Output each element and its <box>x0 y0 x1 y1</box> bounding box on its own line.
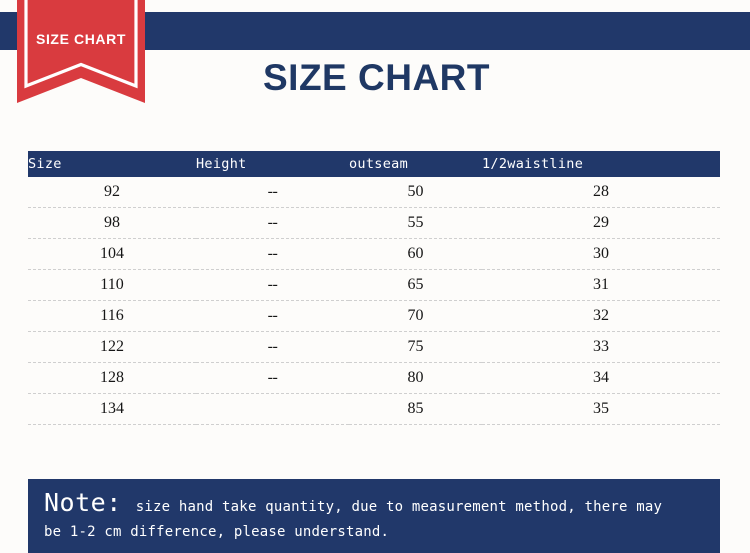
cell-height <box>196 394 349 425</box>
page-title: SIZE CHART <box>263 59 490 96</box>
cell-outseam: 75 <box>349 332 482 363</box>
cell-waistline: 32 <box>482 301 720 332</box>
cell-size: 92 <box>28 177 196 208</box>
cell-waistline: 31 <box>482 270 720 301</box>
cell-size: 110 <box>28 270 196 301</box>
cell-size: 122 <box>28 332 196 363</box>
cell-waistline: 30 <box>482 239 720 270</box>
note-first-line: Note: size hand take quantity, due to me… <box>44 488 710 517</box>
cell-outseam: 80 <box>349 363 482 394</box>
cell-waistline: 28 <box>482 177 720 208</box>
cell-outseam: 65 <box>349 270 482 301</box>
cell-waistline: 29 <box>482 208 720 239</box>
cell-size: 116 <box>28 301 196 332</box>
column-header-outseam: outseam <box>349 151 482 177</box>
table-row: 98 -- 55 29 <box>28 208 720 239</box>
cell-height: -- <box>196 270 349 301</box>
cell-outseam: 85 <box>349 394 482 425</box>
table-header-row: Size Height outseam 1/2waistline <box>28 151 720 177</box>
cell-outseam: 60 <box>349 239 482 270</box>
size-chart-table: Size Height outseam 1/2waistline 92 -- 5… <box>28 151 720 425</box>
cell-size: 98 <box>28 208 196 239</box>
cell-waistline: 33 <box>482 332 720 363</box>
cell-height-value: -- <box>268 374 278 382</box>
cell-height: -- <box>196 332 349 363</box>
cell-outseam: 70 <box>349 301 482 332</box>
table-header: Size Height outseam 1/2waistline <box>28 151 720 177</box>
note-bar: Note: size hand take quantity, due to me… <box>28 479 720 553</box>
table-row: 104 -- 60 30 <box>28 239 720 270</box>
cell-size: 134 <box>28 394 196 425</box>
table-row: 134 85 35 <box>28 394 720 425</box>
table-row: 122 -- 75 33 <box>28 332 720 363</box>
cell-outseam: 55 <box>349 208 482 239</box>
cell-height: -- <box>196 301 349 332</box>
ribbon-label: SIZE CHART <box>17 0 145 78</box>
cell-outseam: 50 <box>349 177 482 208</box>
cell-height: -- <box>196 363 349 394</box>
cell-height: -- <box>196 208 349 239</box>
note-text-line-1: size hand take quantity, due to measurem… <box>136 499 662 515</box>
size-chart-ribbon: SIZE CHART <box>17 0 145 103</box>
note-label: Note: <box>44 488 122 517</box>
cell-waistline: 34 <box>482 363 720 394</box>
table-body: 92 -- 50 28 98 -- 55 29 104 -- 60 30 110… <box>28 177 720 425</box>
cell-waistline: 35 <box>482 394 720 425</box>
note-text-line-2: be 1-2 cm difference, please understand. <box>44 524 710 540</box>
table-row: 116 -- 70 32 <box>28 301 720 332</box>
table-row: 92 -- 50 28 <box>28 177 720 208</box>
column-header-height: Height <box>196 151 349 177</box>
cell-size: 128 <box>28 363 196 394</box>
cell-height: -- <box>196 239 349 270</box>
column-header-size: Size <box>28 151 196 177</box>
table-row: 128 -- 80 34 <box>28 363 720 394</box>
column-header-waistline: 1/2waistline <box>482 151 720 177</box>
table-row: 110 -- 65 31 <box>28 270 720 301</box>
cell-size: 104 <box>28 239 196 270</box>
cell-height: -- <box>196 177 349 208</box>
